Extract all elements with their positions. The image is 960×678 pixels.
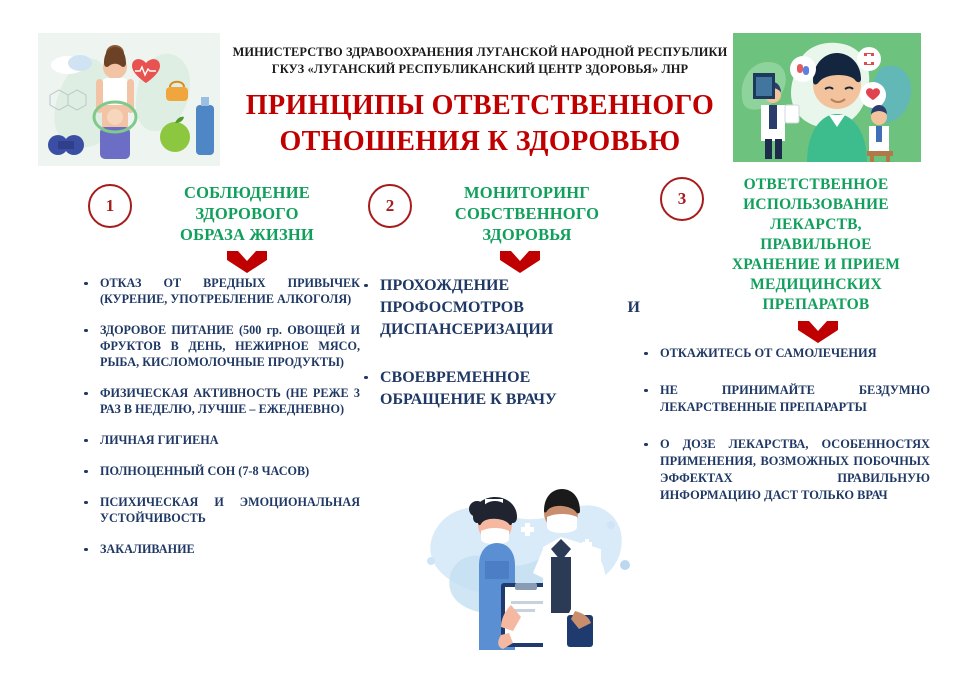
poster-page: МИНИСТЕРСТВО ЗДРАВООХРАНЕНИЯ ЛУГАНСКОЙ Н… — [0, 0, 960, 678]
title-line-2: ОТНОШЕНИЯ К ЗДОРОВЬЮ — [200, 124, 760, 160]
column-1-bullet-list: ОТКАЗ ОТ ВРЕДНЫХ ПРИВЫЧЕК (КУРЕНИЕ, УПОТ… — [70, 275, 360, 557]
column-1-heading: СОБЛЮДЕНИЕ ЗДОРОВОГО ОБРАЗА ЖИЗНИ — [134, 182, 360, 245]
column-number-badge: 1 — [88, 184, 132, 228]
heading-line: МОНИТОРИНГ — [414, 182, 640, 203]
list-item: ПРОХОЖДЕНИЕ ПРОФОСМОТРОВ И ДИСПАНСЕРИЗАЦ… — [350, 275, 640, 341]
chevron-down-icon — [498, 249, 542, 275]
column-number-badge: 3 — [660, 177, 704, 221]
list-item: ПСИХИЧЕСКАЯ И ЭМОЦИОНАЛЬНАЯ УСТОЙЧИВОСТЬ — [70, 494, 360, 526]
column-number-badge: 2 — [368, 184, 412, 228]
chevron-down-wrap — [134, 249, 360, 275]
heading-line: СОБСТВЕННОГО — [414, 203, 640, 224]
list-item: ЗАКАЛИВАНИЕ — [70, 541, 360, 557]
heading-line: ХРАНЕНИЕ И ПРИЕМ — [702, 255, 930, 275]
heading-line: ИСПОЛЬЗОВАНИЕ — [702, 195, 930, 215]
column-2-heading: МОНИТОРИНГ СОБСТВЕННОГО ЗДОРОВЬЯ — [414, 182, 640, 245]
ministry-line-1: МИНИСТЕРСТВО ЗДРАВООХРАНЕНИЯ ЛУГАНСКОЙ Н… — [215, 44, 745, 61]
list-item: ФИЗИЧЕСКАЯ АКТИВНОСТЬ (НЕ РЕЖЕ 3 РАЗ В Н… — [70, 385, 360, 417]
list-item: ПОЛНОЦЕННЫЙ СОН (7-8 ЧАСОВ) — [70, 463, 360, 479]
heading-line: ЛЕКАРСТВ, — [702, 215, 930, 235]
list-item: ЗДОРОВОЕ ПИТАНИЕ (500 гр. ОВОЩЕЙ И ФРУКТ… — [70, 322, 360, 370]
ministry-name: МИНИСТЕРСТВО ЗДРАВООХРАНЕНИЯ ЛУГАНСКОЙ Н… — [215, 44, 745, 78]
heading-line: ПРЕПАРАТОВ — [702, 295, 930, 315]
doctors-patient-green-illustration — [733, 33, 921, 162]
column-2-header: 2 МОНИТОРИНГ СОБСТВЕННОГО ЗДОРОВЬЯ — [350, 182, 640, 245]
column-3: 3 ОТВЕТСТВЕННОЕ ИСПОЛЬЗОВАНИЕ ЛЕКАРСТВ, … — [630, 175, 930, 524]
list-item: ЛИЧНАЯ ГИГИЕНА — [70, 432, 360, 448]
ministry-line-2: ГКУЗ «ЛУГАНСКИЙ РЕСПУБЛИКАНСКИЙ ЦЕНТР ЗД… — [215, 61, 745, 78]
two-medics-masks-illustration — [415, 465, 645, 650]
column-3-bullet-list: ОТКАЖИТЕСЬ ОТ САМОЛЕЧЕНИЯ НЕ ПРИНИМАЙТЕ … — [630, 345, 930, 504]
heading-line: СОБЛЮДЕНИЕ — [134, 182, 360, 203]
page-title: ПРИНЦИПЫ ОТВЕТСТВЕННОГО ОТНОШЕНИЯ К ЗДОР… — [200, 88, 760, 160]
column-1: 1 СОБЛЮДЕНИЕ ЗДОРОВОГО ОБРАЗА ЖИЗНИ ОТКА… — [70, 182, 360, 572]
heading-line: МЕДИЦИНСКИХ — [702, 275, 930, 295]
column-3-header: 3 ОТВЕТСТВЕННОЕ ИСПОЛЬЗОВАНИЕ ЛЕКАРСТВ, … — [630, 175, 930, 315]
heading-line: ЗДОРОВЬЯ — [414, 224, 640, 245]
heading-line: ОБРАЗА ЖИЗНИ — [134, 224, 360, 245]
list-item: ОТКАЗ ОТ ВРЕДНЫХ ПРИВЫЧЕК (КУРЕНИЕ, УПОТ… — [70, 275, 360, 307]
list-item: НЕ ПРИНИМАЙТЕ БЕЗДУМНО ЛЕКАРСТВЕННЫЕ ПРЕ… — [630, 382, 930, 416]
heading-line: ОТВЕТСТВЕННОЕ — [702, 175, 930, 195]
column-1-header: 1 СОБЛЮДЕНИЕ ЗДОРОВОГО ОБРАЗА ЖИЗНИ — [70, 182, 360, 245]
title-line-1: ПРИНЦИПЫ ОТВЕТСТВЕННОГО — [200, 88, 760, 124]
chevron-down-wrap — [706, 319, 930, 345]
column-2: 2 МОНИТОРИНГ СОБСТВЕННОГО ЗДОРОВЬЯ ПРОХО… — [350, 182, 640, 437]
chevron-down-wrap — [400, 249, 640, 275]
heading-line: ПРАВИЛЬНОЕ — [702, 235, 930, 255]
list-item: СВОЕВРЕМЕННОЕ ОБРАЩЕНИЕ К ВРАЧУ — [350, 367, 640, 411]
column-2-bullet-list: ПРОХОЖДЕНИЕ ПРОФОСМОТРОВ И ДИСПАНСЕРИЗАЦ… — [350, 275, 640, 411]
heading-line: ЗДОРОВОГО — [134, 203, 360, 224]
list-item: О ДОЗЕ ЛЕКАРСТВА, ОСОБЕННОСТЯХ ПРИМЕНЕНИ… — [630, 436, 930, 504]
list-item: ОТКАЖИТЕСЬ ОТ САМОЛЕЧЕНИЯ — [630, 345, 930, 362]
column-3-heading: ОТВЕТСТВЕННОЕ ИСПОЛЬЗОВАНИЕ ЛЕКАРСТВ, ПР… — [702, 175, 930, 315]
chevron-down-icon — [225, 249, 269, 275]
chevron-down-icon — [796, 319, 840, 345]
